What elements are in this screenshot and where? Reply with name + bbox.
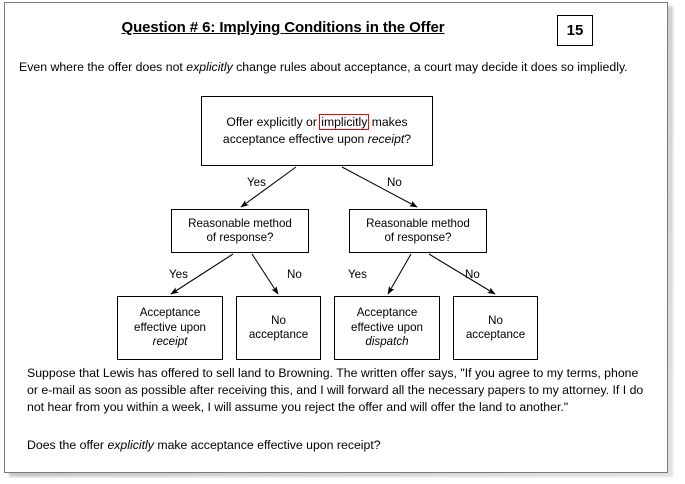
intro-text-emphasis: explicitly: [186, 60, 232, 74]
flowchart-node-mid-left: Reasonable method of response?: [171, 209, 309, 253]
edge-label-mid-left-no: No: [287, 268, 302, 281]
mid-right-line1: Reasonable method: [366, 217, 470, 230]
edge-label-mid-right-yes: Yes: [348, 268, 367, 281]
edge-label-root-yes: Yes: [247, 176, 266, 189]
leaf4-line1: No: [488, 314, 503, 327]
leaf3-line2: effective upon: [351, 321, 423, 334]
closing-question-part1: Does the offer: [27, 438, 107, 452]
root-text-part1: Offer explicitly or: [226, 115, 320, 129]
flowchart-node-mid-right-text: Reasonable method of response?: [366, 217, 470, 246]
mid-left-line2: of response?: [206, 231, 273, 244]
flowchart-node-leaf-acceptance-receipt: Acceptance effective upon receipt: [117, 296, 223, 360]
mid-left-line1: Reasonable method: [188, 217, 292, 230]
flowchart-node-leaf-acceptance-dispatch: Acceptance effective upon dispatch: [334, 296, 440, 360]
closing-question: Does the offer explicitly make acceptanc…: [27, 437, 627, 454]
closing-question-emphasis: explicitly: [107, 438, 153, 452]
leaf2-line2: acceptance: [249, 328, 308, 341]
page-number-badge: 15: [557, 15, 593, 46]
leaf3-line1: Acceptance: [357, 306, 418, 319]
flowchart-node-leaf-4-text: No acceptance: [466, 314, 525, 343]
leaf1-line2: effective upon: [134, 321, 206, 334]
edge-label-mid-left-yes: Yes: [169, 268, 188, 281]
root-text-part3: ?: [404, 132, 411, 146]
flowchart-node-root: Offer explicitly or implicitly makes acc…: [201, 96, 433, 166]
intro-text-part1: Even where the offer does not: [19, 60, 186, 74]
intro-paragraph: Even where the offer does not explicitly…: [19, 59, 649, 76]
page-number-value: 15: [567, 22, 584, 39]
flowchart-node-leaf-2-text: No acceptance: [249, 314, 308, 343]
root-highlighted-term: implicitly: [320, 115, 368, 129]
flowchart-node-leaf-1-text: Acceptance effective upon receipt: [134, 306, 206, 350]
leaf1-line3-emphasis: receipt: [153, 335, 188, 348]
edge-label-mid-right-no: No: [465, 268, 480, 281]
flowchart-node-leaf-no-acceptance-right: No acceptance: [453, 296, 538, 360]
leaf3-line3-emphasis: dispatch: [365, 335, 408, 348]
scenario-paragraph: Suppose that Lewis has offered to sell l…: [27, 365, 649, 416]
closing-question-part2: make acceptance effective upon receipt?: [154, 438, 381, 452]
leaf4-line2: acceptance: [466, 328, 525, 341]
flowchart-node-mid-right: Reasonable method of response?: [349, 209, 487, 253]
intro-text-part2: change rules about acceptance, a court m…: [233, 60, 628, 74]
mid-right-line2: of response?: [384, 231, 451, 244]
leaf1-line1: Acceptance: [140, 306, 201, 319]
leaf2-line1: No: [271, 314, 286, 327]
page-title: Question # 6: Implying Conditions in the…: [5, 19, 561, 36]
flowchart-node-root-text: Offer explicitly or implicitly makes acc…: [205, 114, 429, 148]
flowchart-node-leaf-3-text: Acceptance effective upon dispatch: [351, 306, 423, 350]
slide-canvas: Question # 6: Implying Conditions in the…: [4, 2, 668, 473]
flowchart-node-mid-left-text: Reasonable method of response?: [188, 217, 292, 246]
edge-label-root-no: No: [387, 176, 402, 189]
flowchart-node-leaf-no-acceptance-left: No acceptance: [236, 296, 321, 360]
root-text-emphasis: receipt: [368, 132, 405, 146]
